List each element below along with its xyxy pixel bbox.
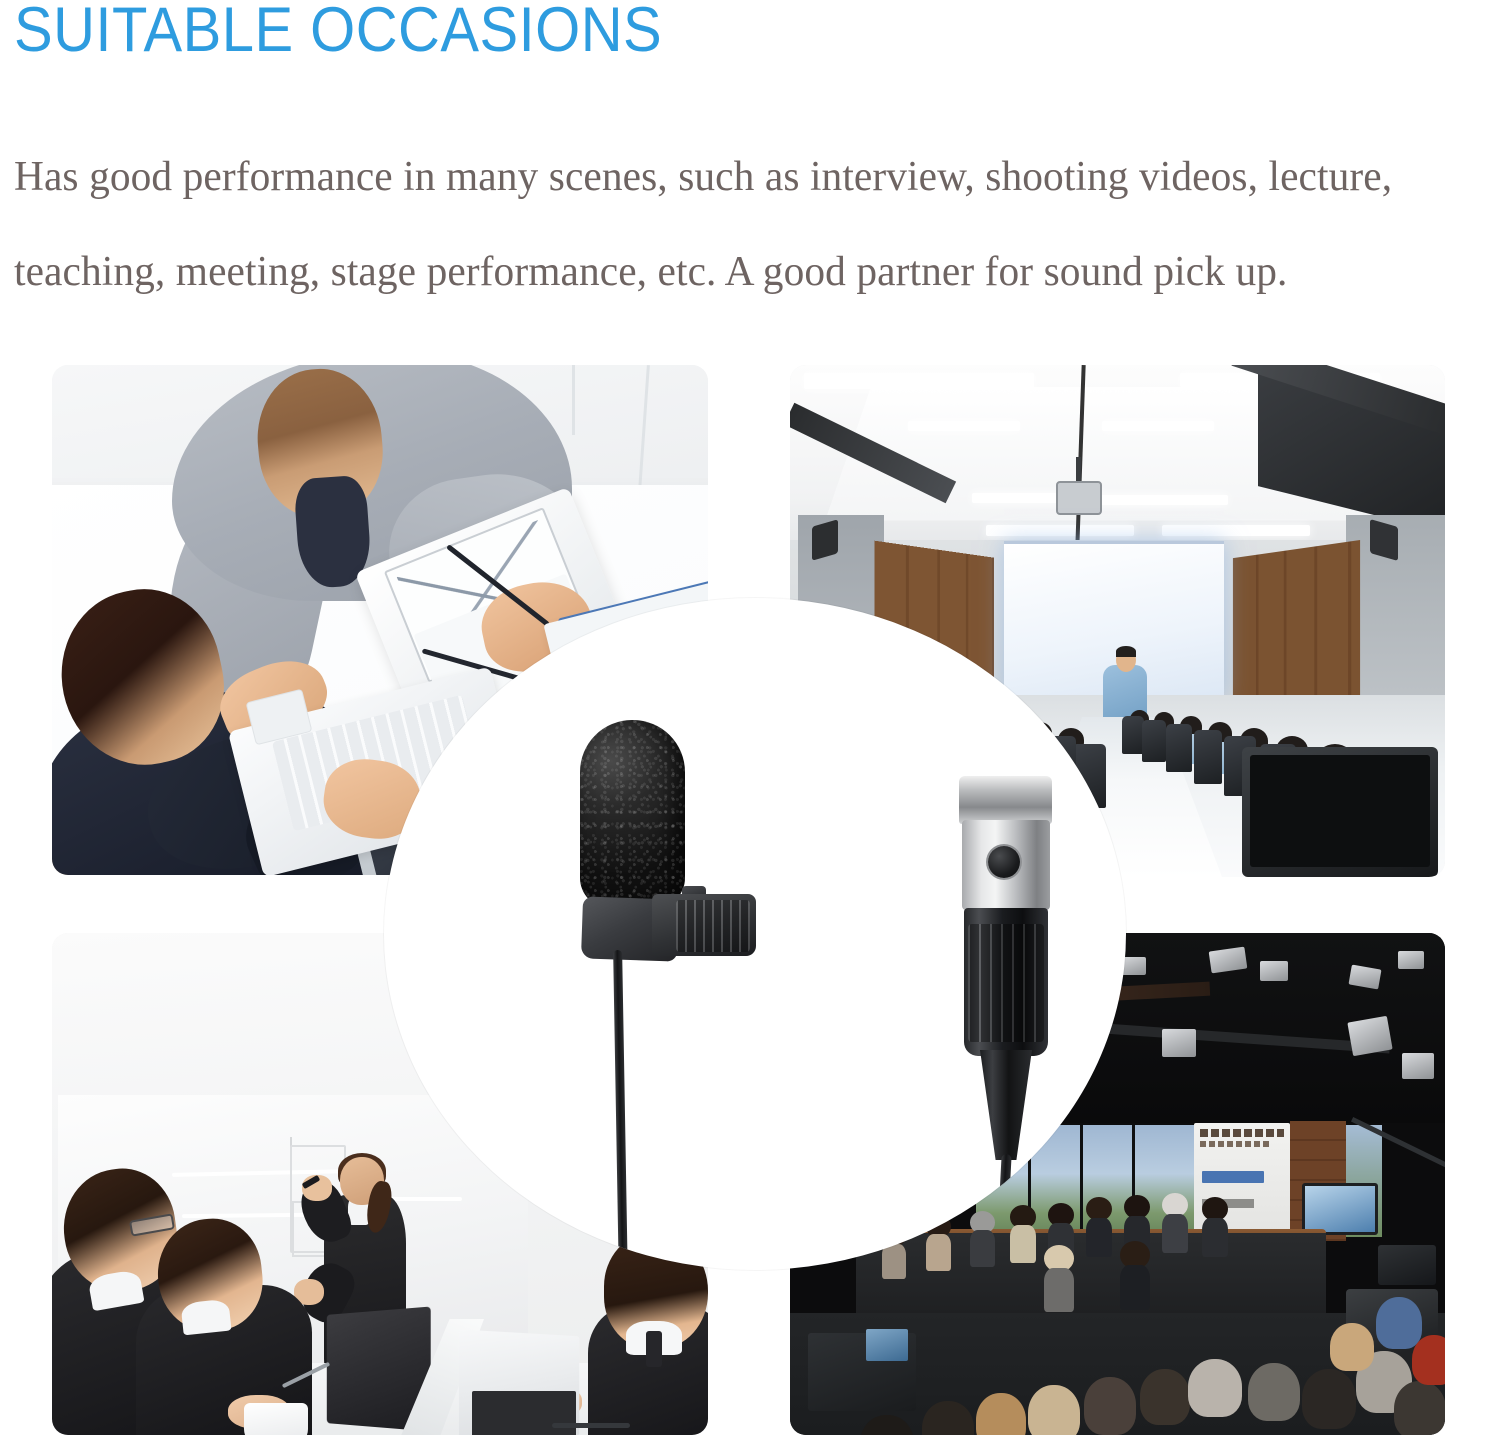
- monitor-screen: [1250, 755, 1430, 867]
- chair: [1142, 720, 1166, 762]
- panelist: [1162, 1193, 1188, 1251]
- sponsor-board-text: [1200, 1141, 1272, 1147]
- description-line-1: Has good performance in many scenes, suc…: [14, 130, 1472, 225]
- sponsor-board-text: [1200, 1129, 1284, 1137]
- audience-member: [1084, 1377, 1136, 1435]
- lavalier-microphone: [384, 598, 1126, 1270]
- studio-camera: [1378, 1245, 1436, 1285]
- xlr-cable-taper: [980, 1050, 1032, 1160]
- studio-light: [1162, 1029, 1196, 1057]
- microphone-cable: [994, 1154, 1011, 1270]
- studio-light: [1347, 1016, 1392, 1056]
- ceiling-light: [1096, 495, 1228, 505]
- panelist-body: [1044, 1268, 1074, 1312]
- audience-member: [922, 1401, 974, 1435]
- ceiling-light: [986, 525, 1134, 536]
- audience-member: [860, 1415, 914, 1435]
- panelist-body: [1120, 1265, 1150, 1310]
- studio-monitor: [1302, 1183, 1378, 1235]
- panelist-body: [1162, 1214, 1188, 1253]
- audience-member: [976, 1393, 1026, 1435]
- audience: [790, 1341, 1445, 1435]
- audience-member: [1140, 1369, 1190, 1425]
- chair: [1166, 724, 1192, 772]
- studio-light: [1402, 1053, 1434, 1079]
- coffee-cup: [244, 1403, 308, 1435]
- xlr-collar: [959, 776, 1052, 824]
- panelist-body: [1202, 1218, 1228, 1257]
- laptop-keyboard: [472, 1391, 576, 1435]
- page-title: SUITABLE OCCASIONS: [14, 0, 662, 66]
- audience-member: [1248, 1363, 1300, 1421]
- studio-light: [1398, 951, 1424, 969]
- panelist: [1202, 1197, 1228, 1255]
- attendee-c-tie: [646, 1331, 662, 1367]
- audience-member: [1330, 1323, 1374, 1371]
- ceiling-light: [908, 421, 1020, 431]
- audience-member: [1412, 1335, 1445, 1385]
- ceiling-light: [1102, 421, 1214, 431]
- audience-member: [1302, 1369, 1356, 1429]
- wall-seam: [572, 365, 575, 435]
- audience-member: [1188, 1359, 1242, 1417]
- studio-light: [1260, 961, 1288, 981]
- audience-member: [1028, 1385, 1080, 1435]
- audience-member: [1394, 1381, 1445, 1435]
- xlr-latch-button: [988, 846, 1020, 878]
- microphone-cable: [613, 950, 628, 1270]
- attendee-b-collar: [180, 1299, 231, 1336]
- tie-clip-ridges: [676, 900, 750, 952]
- page-description: Has good performance in many scenes, suc…: [14, 130, 1472, 320]
- audience-member: [1376, 1297, 1422, 1349]
- xlr-grip-ridges: [968, 924, 1044, 1042]
- chair: [1194, 730, 1222, 784]
- sponsor-logo: [1202, 1171, 1264, 1183]
- ceiling-projector: [1056, 481, 1102, 515]
- ceiling-light: [804, 373, 1034, 389]
- ceiling-light: [1162, 525, 1310, 536]
- product-spotlight: [384, 598, 1126, 1270]
- pen: [552, 1423, 630, 1428]
- foam-windscreen-icon: [580, 720, 685, 908]
- description-line-2: teaching, meeting, stage performance, et…: [14, 225, 1472, 320]
